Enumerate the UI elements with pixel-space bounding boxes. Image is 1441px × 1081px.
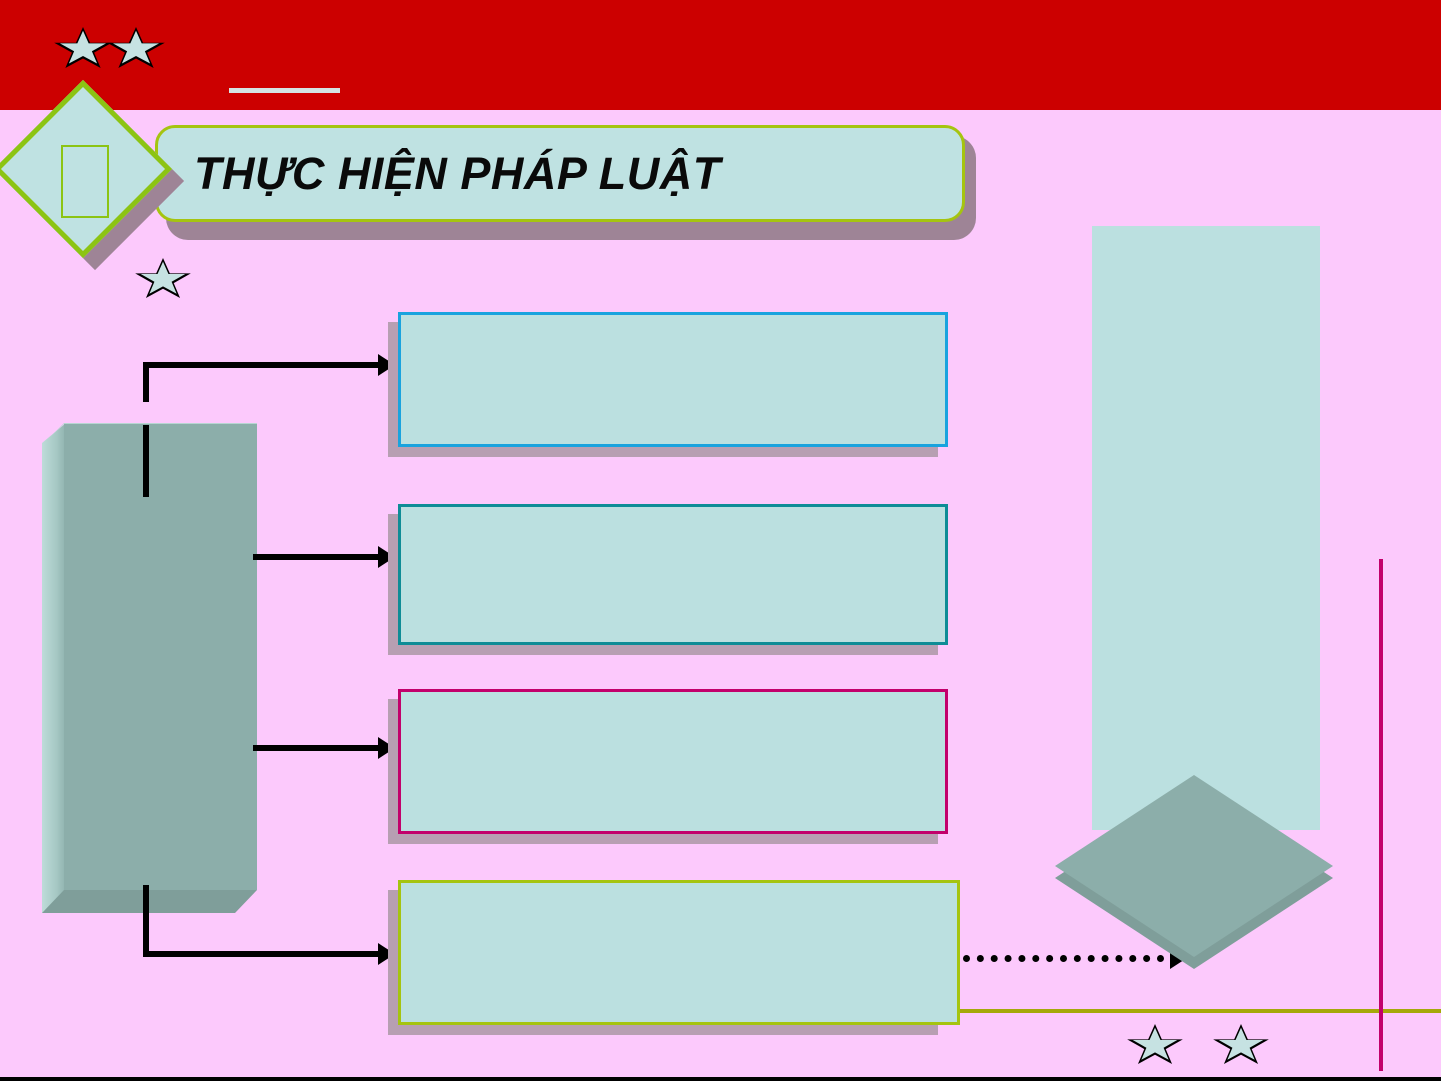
connector-4-horizontal [143, 951, 386, 957]
cube-front-face [64, 423, 257, 890]
connector-1-vertical [143, 425, 149, 497]
page-title: THỰC HIỆN PHÁP LUẬT [194, 148, 721, 200]
content-box-1[interactable] [398, 312, 948, 447]
magenta-divider [1379, 559, 1383, 1009]
connector-3-horizontal [253, 745, 386, 751]
connector-1-riser [143, 362, 149, 402]
content-box-2[interactable] [398, 504, 948, 645]
slide-canvas: THỰC HIỆN PHÁP LUẬT [0, 0, 1441, 1081]
rectangle-outline-icon [61, 145, 109, 218]
connector-2-horizontal [253, 554, 386, 560]
content-box-3[interactable] [398, 689, 948, 834]
title-banner: THỰC HIỆN PHÁP LUẬT [155, 125, 965, 222]
magenta-divider-lower [1379, 1009, 1383, 1071]
bottom-border [0, 1077, 1441, 1081]
content-box-4[interactable] [398, 880, 960, 1025]
cube-bottom-bevel [42, 889, 257, 913]
connector-1-horizontal [143, 362, 383, 368]
side-panel [1092, 226, 1320, 830]
star-icon [1212, 1024, 1270, 1068]
result-diamond-slab [1055, 775, 1335, 970]
star-icon [134, 258, 192, 302]
header-band [0, 0, 1441, 110]
cube-side-face [42, 423, 66, 913]
olive-divider [960, 1009, 1441, 1013]
root-cube [42, 423, 257, 913]
connector-4-vertical [143, 885, 149, 957]
slab-top-face [1055, 775, 1333, 957]
header-underline [229, 88, 340, 93]
star-icon [1126, 1024, 1184, 1068]
